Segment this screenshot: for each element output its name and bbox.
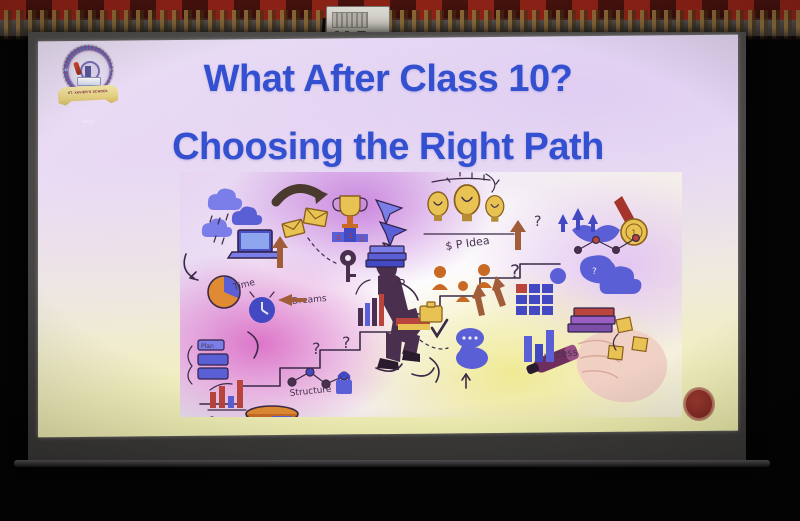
screenshot-root: KNOWLEDGE LIGHT AND TRUTH ST. XAVIER'S S… — [0, 0, 800, 521]
svg-text:1: 1 — [348, 232, 352, 240]
doodle-label-idea: $ P Idea — [445, 234, 491, 253]
doodle-label-structure: Structure — [289, 385, 332, 399]
career-path-doodle-illustration: .ink{stroke:#3b2a46;stroke-width:1.6;fil… — [180, 172, 682, 417]
doodle-label-business: Business — [432, 172, 482, 173]
doodle-question-mark: ? — [534, 214, 541, 230]
doodle-question-mark: ? — [312, 339, 321, 358]
presentation-slide[interactable]: KNOWLEDGE LIGHT AND TRUTH ST. XAVIER'S S… — [38, 35, 738, 438]
slide-title-line-2: Choosing the Right Path — [38, 126, 738, 169]
doodle-label-p: P — [398, 277, 405, 291]
doodle-question-mark: ? — [342, 333, 351, 352]
projector-vent-icon — [332, 12, 368, 28]
svg-text:Plan: Plan — [201, 343, 214, 350]
svg-text:2: 2 — [360, 235, 364, 243]
screen-bottom-bar — [14, 460, 770, 467]
svg-text:3: 3 — [336, 234, 340, 242]
slide-title-line-1: What After Class 10? — [38, 58, 738, 101]
red-seal-stamp — [684, 388, 714, 420]
doodle-svg: .ink{stroke:#3b2a46;stroke-width:1.6;fil… — [180, 172, 682, 417]
svg-text:?: ? — [592, 267, 597, 277]
doodle-question-mark: ? — [510, 261, 520, 283]
